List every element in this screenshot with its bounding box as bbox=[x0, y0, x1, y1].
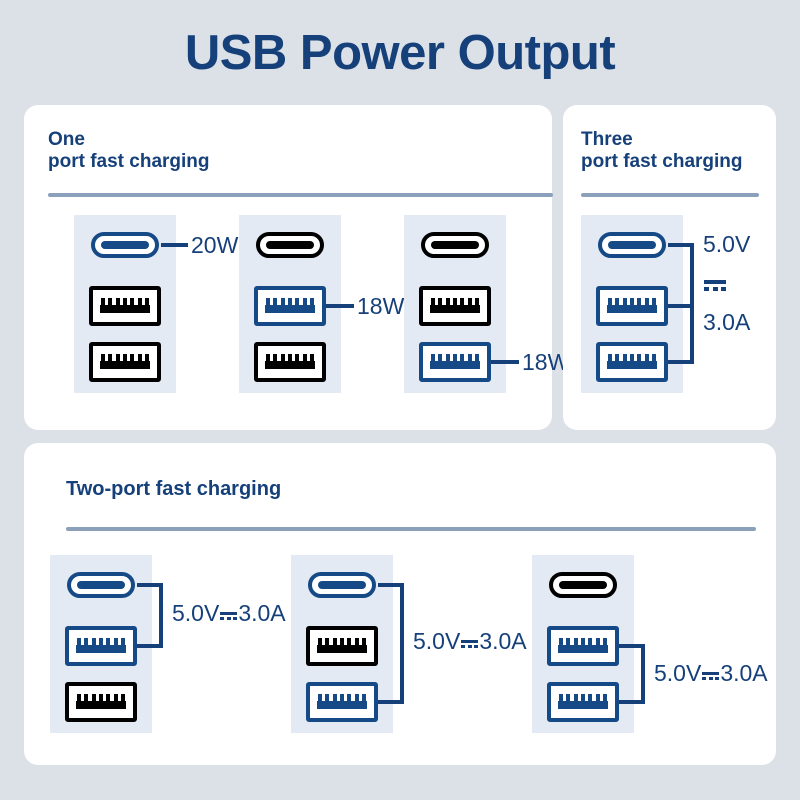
usb-a-port-1[interactable] bbox=[65, 626, 137, 666]
usb-c-port[interactable] bbox=[421, 232, 489, 258]
usb-a-port-2[interactable] bbox=[547, 682, 619, 722]
usb-a-comb-icon bbox=[100, 299, 150, 313]
power-label-20w: 20W bbox=[191, 234, 238, 257]
card-three-port-divider bbox=[581, 193, 759, 197]
rating-current: 3.0A bbox=[238, 600, 285, 626]
rating-voltage: 5.0V bbox=[654, 660, 701, 686]
infographic-page: USB Power Output One port fast charging bbox=[0, 0, 800, 800]
bracket-spine bbox=[400, 583, 404, 704]
rating-current: 3.0A bbox=[703, 311, 750, 334]
connector-line bbox=[161, 243, 188, 247]
usb-a-comb-icon bbox=[76, 695, 126, 709]
bracket-spine bbox=[690, 243, 694, 364]
two-port-rating: 5.0V3.0A bbox=[654, 662, 768, 685]
page-title: USB Power Output bbox=[0, 0, 800, 81]
card-three-port-heading: Three port fast charging bbox=[581, 129, 743, 174]
usb-a-comb-icon bbox=[100, 355, 150, 369]
usb-a-comb-icon bbox=[265, 355, 315, 369]
rating-current: 3.0A bbox=[479, 628, 526, 654]
usb-a-comb-icon bbox=[76, 639, 126, 653]
card-one-port-heading-line2: port fast charging bbox=[48, 151, 210, 173]
card-one-port-heading: One port fast charging bbox=[48, 129, 210, 174]
three-port-rating: 5.0V 3.0A bbox=[703, 233, 750, 334]
connector-line bbox=[491, 360, 519, 364]
usb-a-comb-icon bbox=[607, 355, 657, 369]
usb-c-port[interactable] bbox=[549, 572, 617, 598]
card-two-port: Two-port fast charging 5.0V3.0A bbox=[24, 443, 776, 765]
card-one-port-divider bbox=[48, 193, 553, 197]
usb-c-port[interactable] bbox=[598, 232, 666, 258]
usb-a-port-2[interactable] bbox=[596, 342, 668, 382]
bracket-spine bbox=[641, 644, 645, 704]
usb-a-comb-icon bbox=[607, 299, 657, 313]
dc-symbol-icon bbox=[703, 272, 750, 295]
usb-c-port[interactable] bbox=[67, 572, 135, 598]
usb-a-comb-icon bbox=[558, 639, 608, 653]
rating-voltage: 5.0V bbox=[703, 233, 750, 256]
usb-a-comb-icon bbox=[317, 695, 367, 709]
usb-a-port-2[interactable] bbox=[254, 342, 326, 382]
two-port-rating: 5.0V3.0A bbox=[172, 602, 286, 625]
usb-a-port-1[interactable] bbox=[547, 626, 619, 666]
usb-a-comb-icon bbox=[430, 355, 480, 369]
usb-a-comb-icon bbox=[558, 695, 608, 709]
usb-a-port-1[interactable] bbox=[254, 286, 326, 326]
two-port-rating: 5.0V3.0A bbox=[413, 630, 527, 653]
card-one-port-heading-line1: One bbox=[48, 129, 210, 151]
power-label-18w: 18W bbox=[357, 295, 404, 318]
usb-a-comb-icon bbox=[265, 299, 315, 313]
rating-voltage: 5.0V bbox=[172, 600, 219, 626]
card-three-port: Three port fast charging bbox=[563, 105, 776, 430]
usb-a-port-2[interactable] bbox=[306, 682, 378, 722]
card-three-port-heading-line1: Three bbox=[581, 129, 743, 151]
usb-a-port-1[interactable] bbox=[306, 626, 378, 666]
usb-a-port-2[interactable] bbox=[89, 342, 161, 382]
card-two-port-divider bbox=[66, 527, 756, 531]
usb-a-port-1[interactable] bbox=[419, 286, 491, 326]
usb-c-port[interactable] bbox=[91, 232, 159, 258]
dc-symbol-icon bbox=[702, 669, 719, 681]
card-three-port-heading-line2: port fast charging bbox=[581, 151, 743, 173]
usb-a-port-1[interactable] bbox=[89, 286, 161, 326]
usb-c-port[interactable] bbox=[256, 232, 324, 258]
usb-a-comb-icon bbox=[430, 299, 480, 313]
rating-voltage: 5.0V bbox=[413, 628, 460, 654]
usb-a-port-2[interactable] bbox=[65, 682, 137, 722]
usb-a-port-2[interactable] bbox=[419, 342, 491, 382]
dc-symbol-icon bbox=[461, 637, 478, 649]
bracket-spine bbox=[159, 583, 163, 648]
usb-a-comb-icon bbox=[317, 639, 367, 653]
rating-current: 3.0A bbox=[720, 660, 767, 686]
usb-a-port-1[interactable] bbox=[596, 286, 668, 326]
card-one-port: One port fast charging 20W bbox=[24, 105, 552, 430]
connector-line bbox=[326, 304, 354, 308]
usb-c-port[interactable] bbox=[308, 572, 376, 598]
card-two-port-heading: Two-port fast charging bbox=[66, 478, 281, 502]
dc-symbol-icon bbox=[220, 609, 237, 621]
